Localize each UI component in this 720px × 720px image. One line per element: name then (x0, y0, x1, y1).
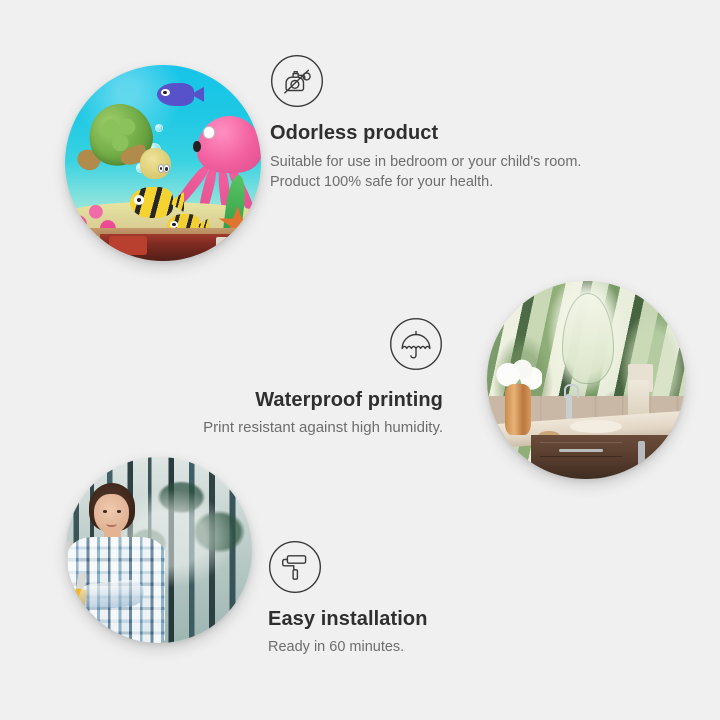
feature-title: Easy installation (268, 608, 568, 631)
faucet (566, 394, 572, 422)
features-page: Odorless product Suitable for use in bed… (0, 0, 720, 720)
forest-scene (66, 457, 252, 643)
no-perfume-icon (270, 54, 600, 108)
woman-installer-forest-photo[interactable] (66, 457, 252, 643)
umbrella-icon (389, 317, 443, 371)
blue-fish (157, 83, 194, 107)
bathroom-scene (487, 281, 685, 479)
sink-basin (570, 420, 621, 434)
feature-install: Easy installation Ready in 60 minutes. (268, 540, 568, 657)
paint-roller-icon (268, 540, 568, 594)
ocean-scene (65, 65, 261, 261)
copper-vase (505, 384, 531, 435)
feature-title: Odorless product (270, 122, 600, 145)
feature-description: Ready in 60 minutes. (268, 637, 568, 657)
room-furniture (100, 234, 245, 261)
feature-description: Print resistant against high humidity. (150, 418, 443, 438)
underwater-kids-mural-photo[interactable] (65, 65, 261, 261)
bathroom-tropical-wallpaper-photo[interactable] (487, 281, 685, 479)
sea-turtle (77, 104, 167, 182)
feature-waterproof: Waterproof printing Print resistant agai… (150, 317, 443, 438)
woman-installer (66, 483, 174, 643)
feature-odorless: Odorless product Suitable for use in bed… (270, 54, 600, 192)
feature-description: Suitable for use in bedroom or your chil… (270, 152, 600, 192)
wooden-vanity (531, 435, 685, 479)
feature-title: Waterproof printing (150, 389, 443, 412)
